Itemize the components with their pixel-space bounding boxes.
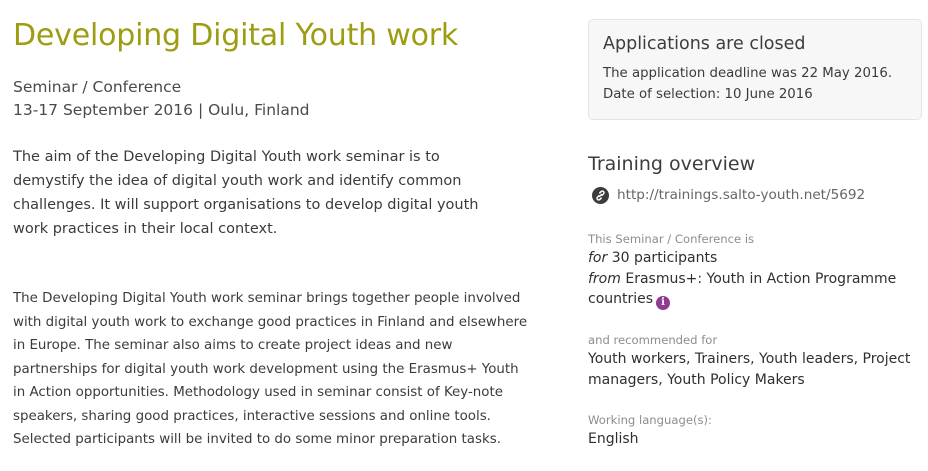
origin-prefix: from — [588, 271, 621, 287]
training-url-link[interactable]: http://trainings.salto-youth.net/5692 — [617, 186, 865, 204]
working-language-label: Working language(s): — [588, 411, 922, 429]
participants-prefix: for — [588, 250, 607, 266]
training-overview-heading: Training overview — [588, 151, 922, 177]
participants-group: This Seminar / Conference is for 30 part… — [588, 230, 922, 310]
participants-label: This Seminar / Conference is — [588, 230, 922, 248]
applications-status-panel: Applications are closed The application … — [588, 19, 922, 120]
origin-value-row: from Erasmus+: Youth in Action Programme… — [588, 269, 922, 311]
event-main-content: Developing Digital Youth work Seminar / … — [13, 18, 548, 452]
training-url-row: http://trainings.salto-youth.net/5692 — [592, 186, 922, 204]
link-icon — [592, 187, 609, 204]
event-subtitle: Seminar / Conference 13-17 September 201… — [13, 76, 548, 122]
origin-value: Erasmus+: Youth in Action Programme coun… — [588, 271, 896, 308]
working-language-value: English — [588, 429, 922, 450]
working-language-group: Working language(s): English — [588, 411, 922, 450]
recommended-for-group: and recommended for Youth workers, Train… — [588, 331, 922, 390]
event-type: Seminar / Conference — [13, 76, 548, 99]
application-selection-date-text: Date of selection: 10 June 2016 — [603, 84, 907, 105]
recommended-for-label: and recommended for — [588, 331, 922, 349]
info-icon[interactable]: i — [656, 296, 670, 310]
event-description-lead: The aim of the Developing Digital Youth … — [13, 145, 513, 241]
event-dates-location: 13-17 September 2016 | Oulu, Finland — [13, 99, 548, 122]
applications-status-heading: Applications are closed — [603, 32, 907, 56]
training-detail-page: Developing Digital Youth work Seminar / … — [0, 0, 928, 461]
participants-count: 30 participants — [612, 250, 718, 266]
recommended-for-value: Youth workers, Trainers, Youth leaders, … — [588, 349, 922, 390]
event-sidebar: Applications are closed The application … — [588, 19, 922, 471]
page-title: Developing Digital Youth work — [13, 18, 548, 54]
participants-value-row: for 30 participants — [588, 248, 922, 269]
application-deadline-text: The application deadline was 22 May 2016… — [603, 63, 907, 84]
event-description-body: The Developing Digital Youth work semina… — [13, 287, 533, 452]
